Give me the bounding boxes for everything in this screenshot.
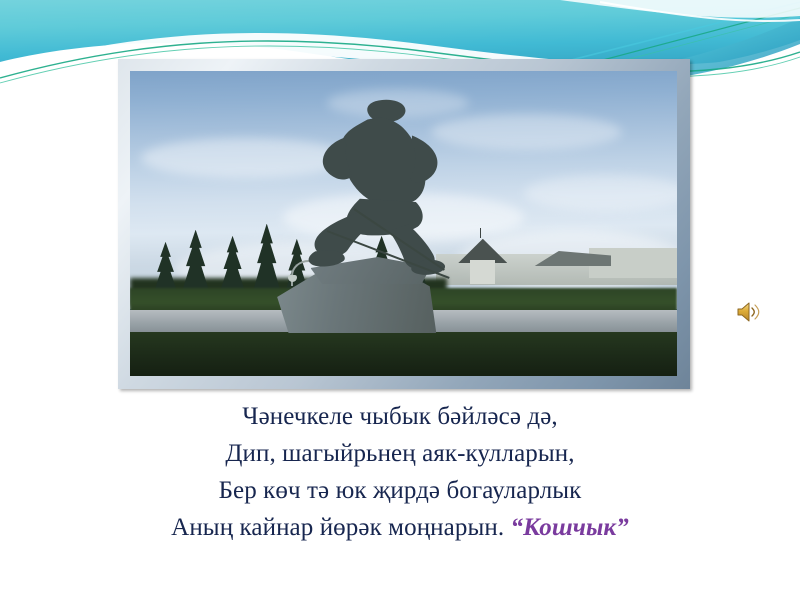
- kremlin-spire: [480, 228, 481, 238]
- poem-text-block: Чәнечкеле чыбык бәйләсә дә, Дип, шагыйрь…: [0, 398, 800, 546]
- poem-line-4: Аның кайнар йөрәк моңнарын. “Кошчык”: [0, 509, 800, 546]
- monument-photo: [130, 71, 677, 376]
- poem-line-4-text: Аның кайнар йөрәк моңнарын.: [171, 514, 504, 541]
- presentation-slide: Чәнечкеле чыбык бәйләсә дә, Дип, шагыйрь…: [0, 0, 800, 600]
- poem-title-reference: “Кошчык”: [511, 514, 629, 541]
- musa-jalil-statue: [300, 98, 464, 275]
- poem-line-2: Дип, шагыйрьнең аяк-кулларын,: [0, 435, 800, 472]
- poem-line-1: Чәнечкеле чыбык бәйләсә дә,: [0, 398, 800, 435]
- speaker-icon[interactable]: [735, 300, 761, 324]
- poem-line-3: Бер көч тә юк җирдә богауларлык: [0, 472, 800, 509]
- picture-frame[interactable]: [118, 59, 690, 389]
- kremlin-tower: [470, 260, 495, 284]
- foreground-grass: [130, 332, 677, 376]
